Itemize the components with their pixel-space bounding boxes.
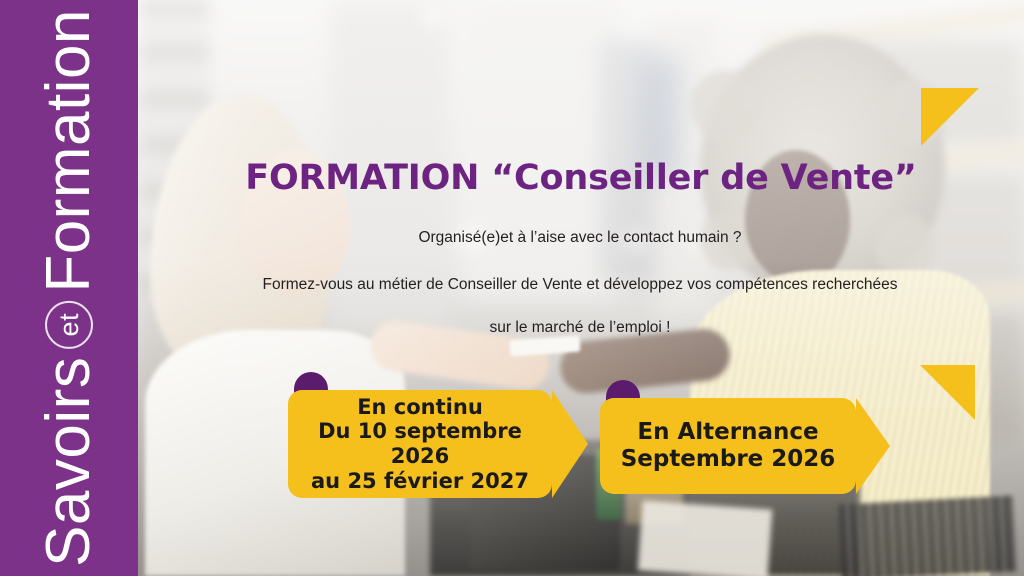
banner-en-alternance-line-2: Septembre 2026 <box>608 446 848 473</box>
page-title: FORMATION “Conseiller de Vente” <box>138 158 1024 198</box>
banner-en-continu-body: En continu Du 10 septembre 2026 au 25 fé… <box>288 390 552 498</box>
ribbon-arrow-icon <box>552 390 588 498</box>
brand-sidebar: Savoirs et Formation <box>0 0 138 576</box>
brand-logo-vertical: Savoirs et Formation <box>38 9 100 567</box>
promo-slide: Savoirs et Formation FORMATION “Conseill… <box>0 0 1024 576</box>
banner-en-alternance-line-1: En Alternance <box>608 419 848 446</box>
brand-et-badge: et <box>45 301 93 349</box>
triangle-bottom-right-icon <box>920 365 975 420</box>
brand-name-part1: Savoirs <box>38 357 100 567</box>
banner-en-continu-line-2: Du 10 septembre 2026 <box>296 419 544 468</box>
banner-en-alternance-body: En Alternance Septembre 2026 <box>600 398 856 494</box>
brand-connector: et <box>56 313 83 337</box>
ribbon-arrow-icon <box>856 398 890 494</box>
body-line-1: Organisé(e)et à l’aise avec le contact h… <box>160 228 1000 249</box>
body-line-2: Formez-vous au métier de Conseiller de V… <box>160 275 1000 296</box>
banner-en-continu-line-1: En continu <box>296 395 544 420</box>
body-line-3: sur le marché de l’emploi ! <box>160 318 1000 339</box>
banner-en-continu: En continu Du 10 septembre 2026 au 25 fé… <box>288 390 552 498</box>
banner-en-alternance: En Alternance Septembre 2026 <box>600 398 856 494</box>
banner-en-continu-line-3: au 25 février 2027 <box>296 469 544 494</box>
brand-name-part2: Formation <box>38 9 100 293</box>
triangle-top-right-icon <box>921 88 979 146</box>
body-spacer <box>160 249 1000 275</box>
body-copy: Organisé(e)et à l’aise avec le contact h… <box>160 228 1000 339</box>
